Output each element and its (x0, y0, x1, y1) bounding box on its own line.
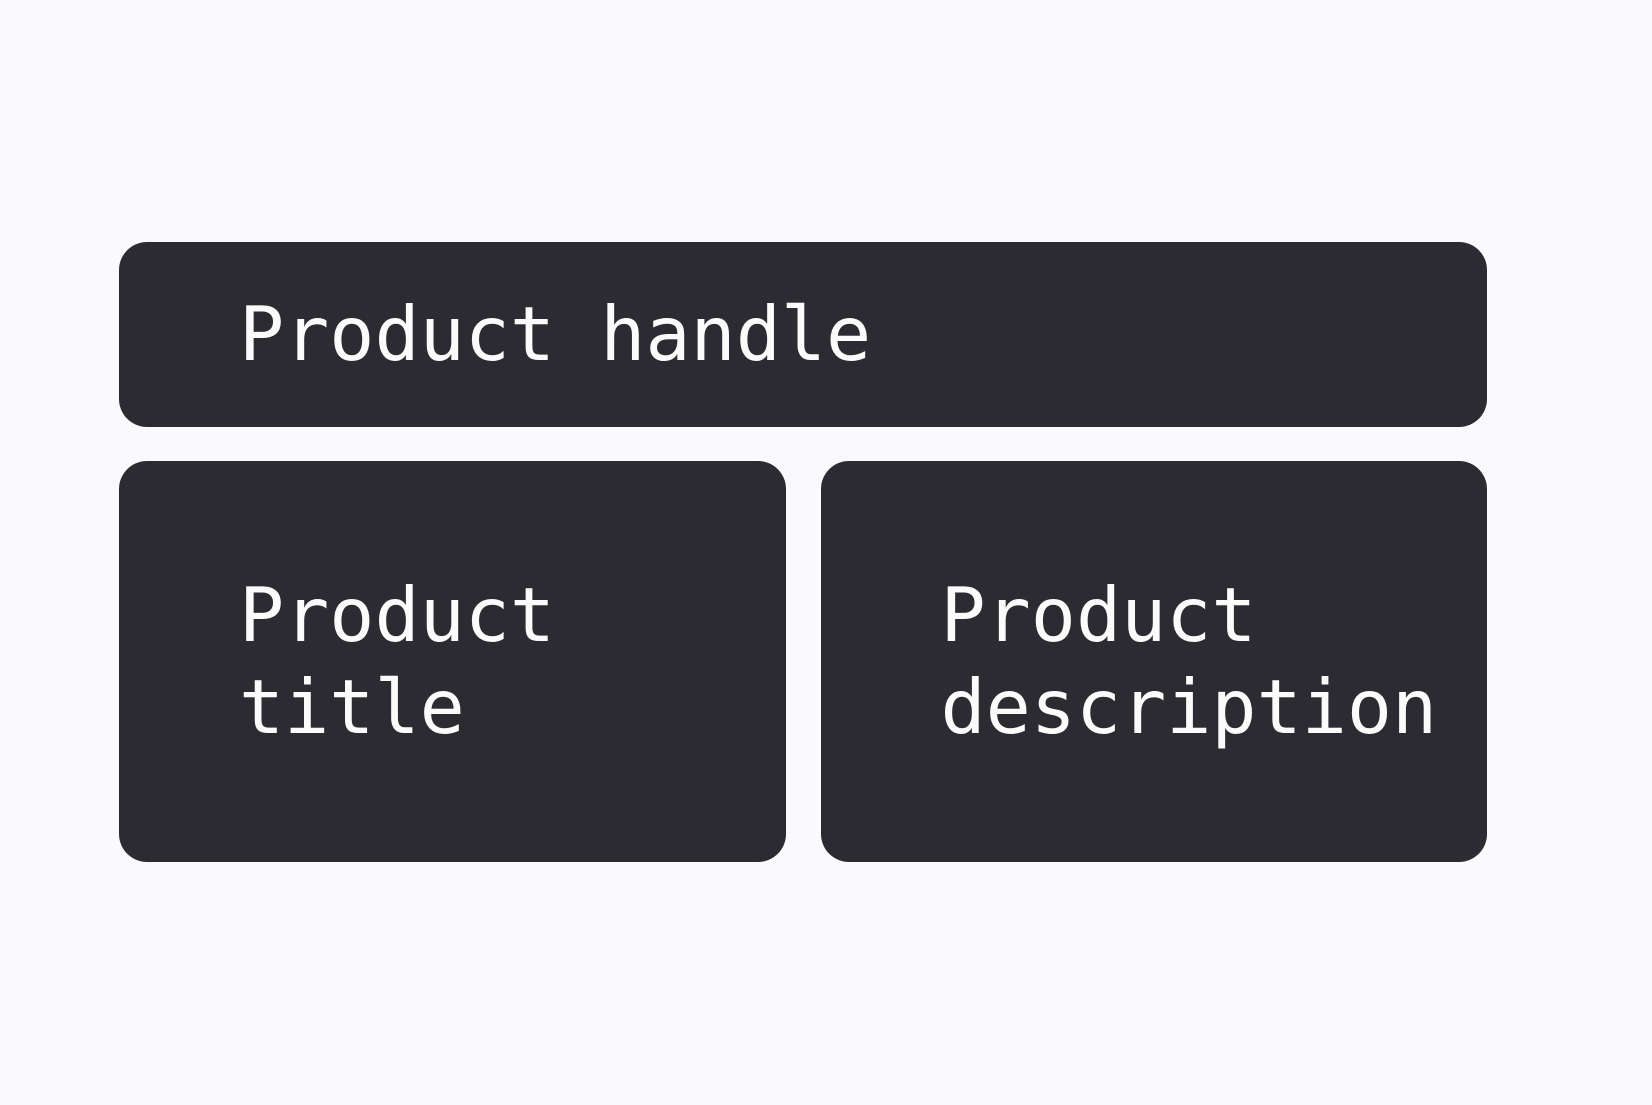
product-handle-card[interactable]: Product handle (119, 242, 1487, 427)
product-field-card-grid: Product handle Product title Product des… (119, 242, 1487, 862)
product-description-card[interactable]: Product description (821, 461, 1488, 862)
page-canvas: Product handle Product title Product des… (0, 0, 1652, 1105)
product-description-label: Product description (941, 570, 1458, 753)
product-title-card[interactable]: Product title (119, 461, 786, 862)
product-handle-label: Product handle (239, 289, 871, 381)
product-field-card-row: Product title Product description (119, 461, 1487, 862)
product-title-label: Product title (239, 570, 740, 753)
